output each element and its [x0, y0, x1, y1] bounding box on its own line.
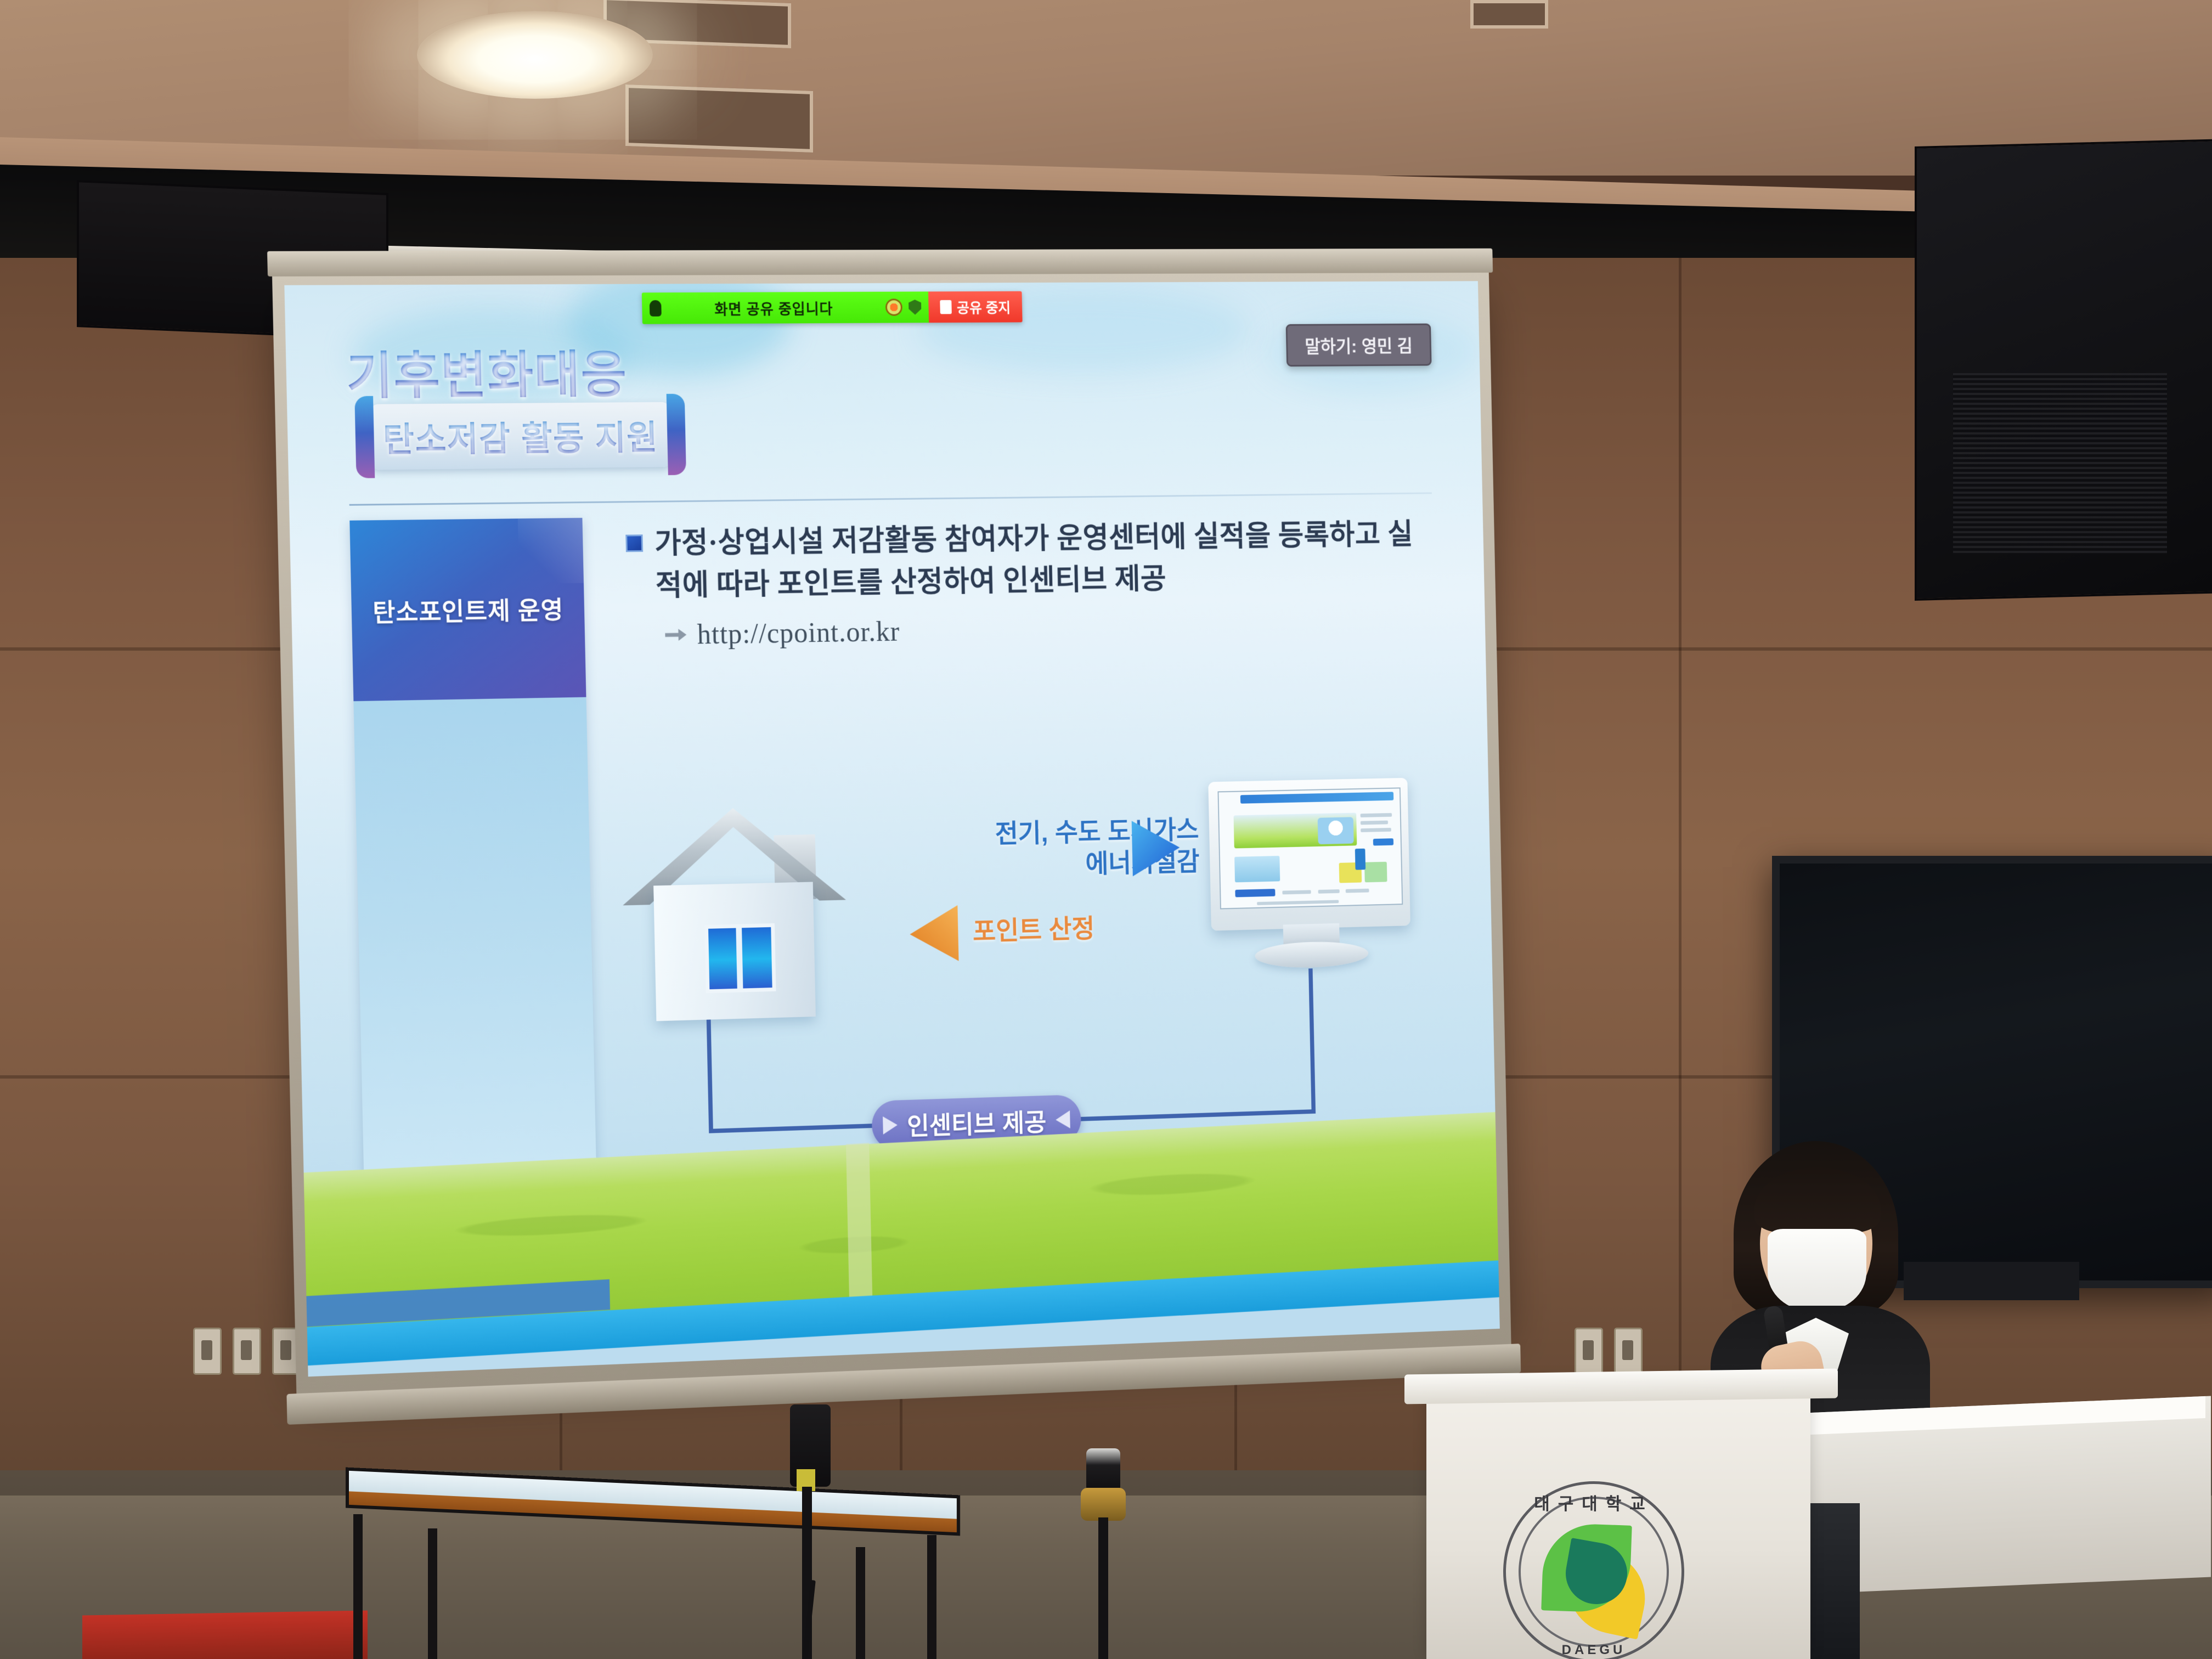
- url-row: http://cpoint.or.kr: [665, 608, 1430, 651]
- ceiling-light-fixture: [417, 11, 653, 99]
- share-status-area: 화면 공유 중입니다: [642, 291, 929, 324]
- home-icon: [620, 800, 848, 1022]
- arrow-left-orange-icon: [909, 905, 958, 962]
- website-text-line: [1361, 821, 1388, 825]
- website-text-line: [1318, 889, 1340, 894]
- connector-line: [1079, 1109, 1316, 1121]
- slide-title: 기후변화대응: [346, 334, 628, 408]
- slide-section-banner-label: 탄소저감 활동 지원: [382, 410, 659, 462]
- slide-section-banner: 탄소저감 활동 지원: [369, 402, 672, 470]
- wall-outlet-icon: [233, 1328, 261, 1375]
- ceiling-vent-icon: [1470, 0, 1548, 29]
- website-text-line: [1361, 828, 1391, 832]
- connector-line: [709, 1124, 874, 1133]
- website-text-line: [1361, 813, 1392, 817]
- wall-outlet-icon: [1575, 1328, 1603, 1375]
- website-button: [1235, 889, 1275, 897]
- connector-line: [707, 1019, 713, 1133]
- slide-sidebar-label: 탄소포인트제 운영: [373, 590, 564, 629]
- equipment-table: [346, 1481, 960, 1659]
- bullet-item: 가정·상업시설 저감활동 참여자가 운영센터에 실적을 등록하고 실적에 따라 …: [625, 513, 1429, 608]
- tripod-pole: [1098, 1517, 1108, 1659]
- slide-sidebar-panel: 탄소포인트제 운영: [349, 518, 598, 1249]
- podium-top-surface: [1404, 1368, 1838, 1404]
- face-mask-icon: [1768, 1229, 1866, 1311]
- red-floor-mat: [82, 1610, 368, 1659]
- corner-highlight: [518, 518, 584, 584]
- connector-line: [1308, 968, 1316, 1114]
- screen-top-bar: [267, 249, 1493, 276]
- arrow-right-icon: [665, 629, 686, 641]
- website-footer-line: [1257, 900, 1339, 905]
- active-speaker-chip: 말하기: 영민 김: [1285, 324, 1431, 367]
- website-text-line: [1282, 890, 1311, 894]
- slide-sidebar-header: 탄소포인트제 운영: [349, 518, 586, 701]
- emblem-english-name: DAEGU: [1503, 1643, 1684, 1658]
- screen-share-toolbar[interactable]: 화면 공유 중입니다 공유 중지: [642, 291, 1023, 324]
- header-divider: [349, 492, 1432, 505]
- flow-label-points: 포인트 산정: [972, 907, 1095, 948]
- stop-sharing-label: 공유 중지: [957, 297, 1011, 317]
- shield-icon[interactable]: [909, 300, 922, 315]
- wall-seam: [1679, 258, 1681, 1503]
- bullet-text: 가정·상업시설 저감활동 참여자가 운영센터에 실적을 등록하고 실적에 따라 …: [654, 513, 1429, 607]
- monitor-base: [1255, 940, 1369, 969]
- website-card: [1355, 849, 1365, 870]
- website-hero-figure: [1318, 817, 1354, 844]
- slide-body-text: 가정·상업시설 저감활동 참여자가 운영센터에 실적을 등록하고 실적에 따라 …: [625, 513, 1430, 652]
- emblem-text: 대구대학교 DAEGU: [1503, 1481, 1684, 1659]
- arrow-left-small-icon: [1056, 1110, 1070, 1129]
- table-leg: [856, 1547, 865, 1659]
- window: [704, 923, 776, 993]
- arrow-right-small-icon: [883, 1116, 898, 1135]
- wall-outlet-icon: [1614, 1328, 1643, 1375]
- share-status-label: 화면 공유 중입니다: [668, 297, 879, 319]
- microphone-icon[interactable]: [650, 300, 662, 317]
- website-button: [1373, 838, 1393, 845]
- grass-path: [846, 1143, 873, 1305]
- tripod-knob: [1081, 1488, 1126, 1521]
- camera-head-icon: [1086, 1448, 1120, 1492]
- monitor-screen: [1217, 787, 1403, 909]
- wall-outlet-icon: [193, 1328, 222, 1375]
- table-leg: [353, 1514, 363, 1659]
- ceiling-vent-icon: [625, 84, 813, 153]
- monitor-website-icon: [1208, 778, 1411, 973]
- website-card: [1234, 856, 1280, 882]
- university-emblem: 대구대학교 DAEGU: [1503, 1481, 1684, 1659]
- second-camera-tripod: [1064, 1448, 1141, 1659]
- table-leg: [927, 1535, 936, 1659]
- monitor-frame: [1208, 778, 1410, 931]
- stop-sharing-button[interactable]: 공유 중지: [928, 291, 1023, 323]
- website-card: [1364, 862, 1387, 883]
- presentation-slide: 화면 공유 중입니다 공유 중지 기후변화대응 말하기: 영민 김 탄소저감 활…: [284, 281, 1499, 1376]
- slide-url[interactable]: http://cpoint.or.kr: [697, 616, 900, 651]
- lecture-hall-photo: 화면 공유 중입니다 공유 중지 기후변화대응 말하기: 영민 김 탄소저감 활…: [0, 0, 2212, 1659]
- table-leg: [428, 1528, 437, 1659]
- emblem-korean-name: 대구대학교: [1503, 1490, 1684, 1515]
- active-speaker-label: 말하기: 영민 김: [1305, 336, 1413, 357]
- stop-square-icon: [940, 300, 952, 314]
- speaker-grill: [1953, 373, 2167, 554]
- square-bullet-icon: [625, 534, 643, 552]
- website-text-line: [1346, 889, 1369, 893]
- projection-screen: 화면 공유 중입니다 공유 중지 기후변화대응 말하기: 영민 김 탄소저감 활…: [284, 281, 1499, 1376]
- record-dot-icon[interactable]: [885, 298, 902, 315]
- website-navbar: [1240, 792, 1393, 803]
